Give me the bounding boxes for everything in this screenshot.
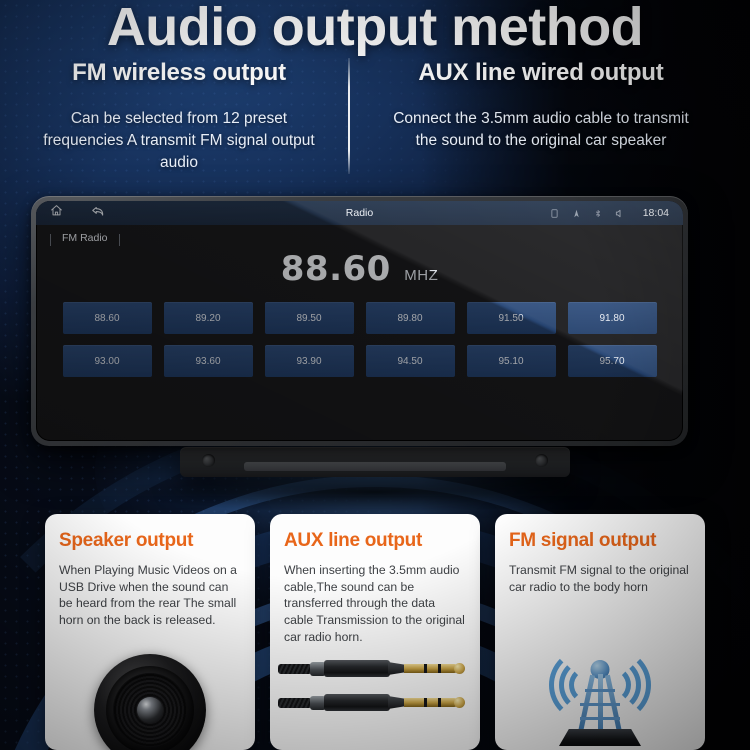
preset-button[interactable]: 95.70 [568,345,657,377]
location-icon [572,208,581,219]
preset-button[interactable]: 91.50 [467,302,556,334]
home-icon[interactable] [50,204,63,222]
card-title: Speaker output [45,530,255,552]
preset-button[interactable]: 93.00 [63,345,152,377]
column-fm-wireless: FM wireless output Can be selected from … [14,59,344,174]
tab-bar: FM Radio [36,225,683,251]
card-aux-line-output: AUX line output When inserting the 3.5mm… [270,514,480,750]
stand-screw-left [202,454,215,467]
car-display-device: Radio [31,196,688,446]
status-bar-clock: 18:04 [643,207,669,219]
card-body: When inserting the 3.5mm audio cable,The… [270,562,480,646]
device-stand [180,447,570,477]
card-title: FM signal output [495,530,705,552]
card-body: Transmit FM signal to the original car r… [495,562,705,595]
preset-frequency-grid: 88.60 89.20 89.50 89.80 91.50 91.80 93.0… [63,302,657,377]
sim-icon [550,208,559,219]
feature-card-row: Speaker output When Playing Music Videos… [0,514,750,750]
page-title: Audio output method [0,0,750,58]
device-screen: Radio [36,201,683,441]
speaker-driver-icon [45,654,255,750]
card-speaker-output: Speaker output When Playing Music Videos… [45,514,255,750]
status-bar: Radio [36,201,683,225]
column-body-fm: Can be selected from 12 preset frequenci… [14,108,344,174]
column-divider [348,58,350,174]
column-heading-aux: AUX line wired output [376,59,706,87]
preset-button[interactable]: 89.80 [366,302,455,334]
preset-button[interactable]: 93.60 [164,345,253,377]
current-frequency-display: 88.60 MHZ [36,249,683,289]
poster-root: Audio output method FM wireless output C… [0,0,750,750]
preset-button[interactable]: 95.10 [467,345,556,377]
volume-icon [615,208,626,219]
frequency-unit: MHZ [404,267,438,284]
back-arrow-icon[interactable] [91,204,105,223]
preset-button[interactable]: 88.60 [63,302,152,334]
card-fm-signal-output: FM signal output Transmit FM signal to t… [495,514,705,750]
card-body: When Playing Music Videos on a USB Drive… [45,562,255,629]
stand-screw-right [535,454,548,467]
column-aux-wired: AUX line wired output Connect the 3.5mm … [376,59,706,152]
device-drop-shadow [115,472,635,512]
preset-button[interactable]: 91.80 [568,302,657,334]
card-title: AUX line output [270,530,480,552]
preset-button[interactable]: 89.20 [164,302,253,334]
fm-tower-icon [495,654,705,750]
preset-button[interactable]: 89.50 [265,302,354,334]
column-heading-fm: FM wireless output [14,59,344,87]
tab-fm-radio[interactable]: FM Radio [50,232,120,244]
aux-cable-icon [270,654,480,750]
preset-button[interactable]: 94.50 [366,345,455,377]
frequency-value: 88.60 [281,249,391,289]
preset-button[interactable]: 93.90 [265,345,354,377]
bluetooth-icon [594,208,602,219]
column-body-aux: Connect the 3.5mm audio cable to transmi… [376,108,706,152]
